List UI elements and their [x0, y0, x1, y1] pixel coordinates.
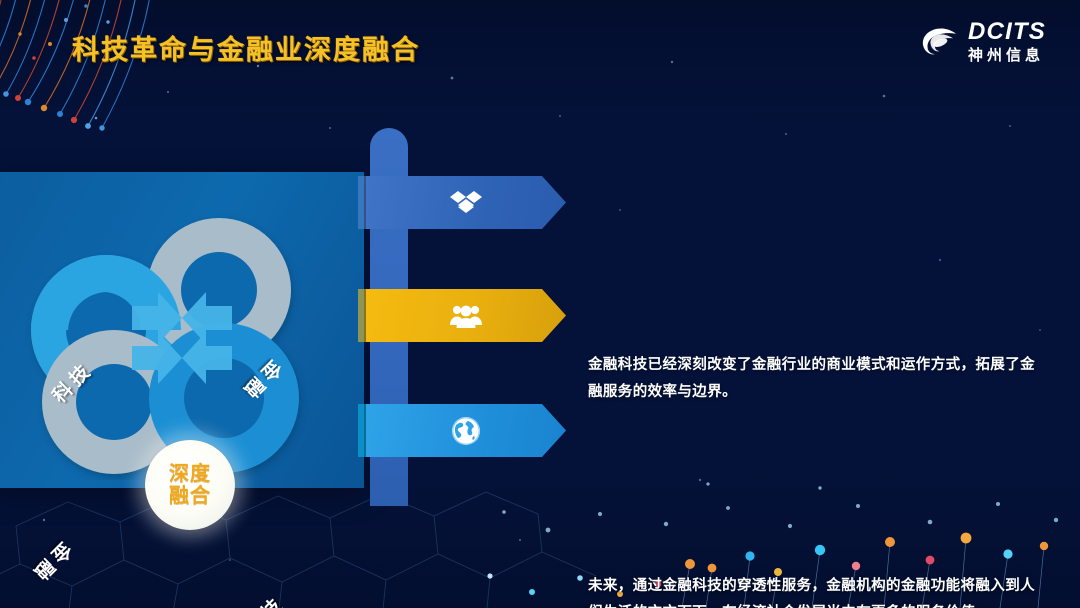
slide-canvas: 科技革命与金融业深度融合 DCITS 神州信息 [0, 0, 1080, 608]
row-2-text: 未来，通过金融科技的穿透性服务，金融机构的金融功能将融入到人们生活的方方面面，在… [588, 573, 1036, 608]
center-label-line1: 深度 [169, 463, 211, 485]
diagram-center-badge: 深度 融合 [145, 440, 235, 530]
deep-integration-flower-diagram [6, 180, 356, 480]
infographic-panel: 科技 金融 金融 科技 深度 融合 [0, 172, 364, 488]
logo-chinese-text: 神州信息 [968, 48, 1046, 63]
dcits-swirl-icon [917, 22, 959, 62]
slide-header: 科技革命与金融业深度融合 DCITS 神州信息 [0, 0, 1080, 92]
dropbox-diamonds-icon [449, 186, 483, 220]
page-title: 科技革命与金融业深度融合 [72, 28, 420, 67]
globe-icon [449, 414, 483, 448]
arrow-body-1 [366, 176, 566, 229]
arrow-body-3 [366, 404, 566, 457]
logo-english-text: DCITS [968, 20, 1046, 44]
brand-logo: DCITS 神州信息 [917, 20, 1046, 63]
row-1-text: 金融科技已经深刻改变了金融行业的商业模式和运作方式，拓展了金融服务的效率与边界。 [588, 352, 1036, 406]
arrow-banner-1[interactable] [358, 176, 566, 229]
arrow-banner-3[interactable] [358, 404, 566, 457]
center-label-line2: 融合 [169, 485, 211, 507]
arrow-banner-2[interactable] [358, 289, 566, 342]
arrow-body-2 [366, 289, 566, 342]
users-group-icon [449, 299, 483, 333]
